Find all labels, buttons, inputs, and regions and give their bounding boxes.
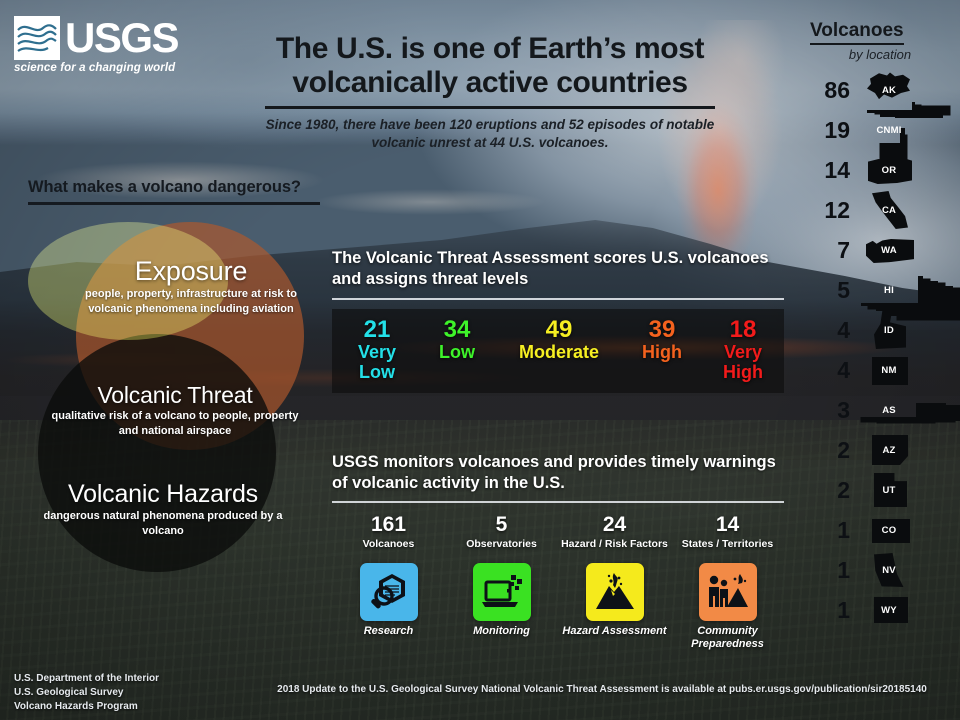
- byloc-count: 1: [800, 559, 858, 582]
- state-abbr: AS: [882, 405, 896, 416]
- threat-level-count: 18: [704, 317, 782, 342]
- byloc-count: 19: [800, 119, 858, 142]
- stat-label: Observatories: [445, 538, 558, 551]
- state-abbr: CA: [882, 205, 896, 216]
- stat-label: States / Territories: [671, 538, 784, 551]
- venn-title-exposure: Exposure: [66, 256, 316, 287]
- threat-assessment-block: The Volcanic Threat Assessment scores U.…: [332, 248, 784, 393]
- threat-level-label: Very High: [704, 343, 782, 383]
- state-shape-or: OR: [858, 151, 920, 189]
- threat-level-count: 49: [498, 317, 620, 342]
- threat-level-count: 39: [620, 317, 704, 342]
- activity-label: Hazard Assessment: [562, 625, 666, 638]
- state-abbr: OR: [882, 165, 897, 176]
- threat-level-item: 18 Very High: [704, 317, 782, 383]
- state-shape-wy: WY: [858, 591, 920, 629]
- stat-item: 14 States / Territories: [671, 514, 784, 551]
- activity-research: Research: [332, 563, 445, 651]
- footer-agency-line: U.S. Department of the Interior: [14, 672, 159, 686]
- byloc-subtitle: by location: [810, 47, 950, 62]
- stat-label: Hazard / Risk Factors: [558, 538, 671, 551]
- byloc-row: 1 CO: [800, 510, 950, 550]
- state-abbr: HI: [884, 285, 894, 296]
- page-title: The U.S. is one of Earth’s most volcanic…: [265, 32, 715, 100]
- threat-level-count: 34: [416, 317, 498, 342]
- state-abbr: AZ: [882, 445, 895, 456]
- venn-desc-hazards: dangerous natural phenomena produced by …: [28, 509, 298, 538]
- stat-item: 24 Hazard / Risk Factors: [558, 514, 671, 551]
- activity-label: Research: [364, 625, 414, 638]
- monitoring-block: USGS monitors volcanoes and provides tim…: [332, 452, 784, 651]
- activity-label: Community Preparedness: [671, 625, 784, 651]
- state-abbr: CO: [882, 525, 897, 536]
- state-abbr: AK: [882, 85, 896, 96]
- question-heading-text: What makes a volcano dangerous?: [28, 178, 320, 197]
- monitoring-heading: USGS monitors volcanoes and provides tim…: [332, 452, 784, 495]
- usgs-wave-icon: [14, 16, 60, 60]
- byloc-count: 2: [800, 439, 858, 462]
- byloc-count: 4: [800, 359, 858, 382]
- byloc-row: 12 CA: [800, 190, 950, 230]
- threat-level-panel: 21 Very Low 34 Low 49 Moderate 39 High 1…: [332, 309, 784, 393]
- erupting-volcano-icon: [586, 563, 644, 621]
- byloc-count: 14: [800, 159, 858, 182]
- magnifier-hexagon-icon: [360, 563, 418, 621]
- stat-label: Volcanoes: [332, 538, 445, 551]
- threat-assessment-heading: The Volcanic Threat Assessment scores U.…: [332, 248, 784, 291]
- venn-label-hazards: Volcanic Hazards dangerous natural pheno…: [28, 480, 298, 538]
- usgs-tagline: science for a changing world: [14, 62, 194, 74]
- state-shape-nv: NV: [858, 551, 920, 589]
- people-volcano-icon: [699, 563, 757, 621]
- threat-level-label: High: [620, 343, 704, 363]
- byloc-count: 2: [800, 479, 858, 502]
- threat-level-label: Very Low: [338, 343, 416, 383]
- monitoring-divider: [332, 501, 784, 503]
- state-shape-hi: HI: [858, 271, 920, 309]
- footer-agency: U.S. Department of the Interior U.S. Geo…: [14, 672, 159, 715]
- state-abbr: CNMI: [876, 125, 901, 136]
- state-shape-wa: WA: [858, 231, 920, 269]
- activity-label: Monitoring: [473, 625, 530, 638]
- activity-hazard-assessment: Hazard Assessment: [558, 563, 671, 651]
- headline-subtitle: Since 1980, there have been 120 eruption…: [265, 116, 715, 152]
- byloc-count: 7: [800, 239, 858, 262]
- byloc-row: 1 NV: [800, 550, 950, 590]
- monitoring-stats: 161 Volcanoes 5 Observatories 24 Hazard …: [332, 514, 784, 551]
- venn-title-threat: Volcanic Threat: [46, 382, 304, 409]
- byloc-title: Volcanoes: [810, 20, 904, 45]
- infographic-poster: USGS science for a changing world The U.…: [0, 0, 960, 720]
- byloc-row: 3 AS: [800, 390, 950, 430]
- question-heading-divider: [28, 202, 320, 205]
- laptop-data-icon: [473, 563, 531, 621]
- byloc-row: 2 AZ: [800, 430, 950, 470]
- byloc-row: 4 ID: [800, 310, 950, 350]
- venn-label-threat: Volcanic Threat qualitative risk of a vo…: [46, 382, 304, 438]
- byloc-row: 86 AK: [800, 70, 950, 110]
- byloc-row: 2 UT: [800, 470, 950, 510]
- usgs-logo: USGS science for a changing world: [14, 16, 194, 74]
- stat-number: 5: [445, 514, 558, 536]
- stat-number: 24: [558, 514, 671, 536]
- stat-number: 161: [332, 514, 445, 536]
- threat-level-item: 34 Low: [416, 317, 498, 363]
- state-shape-ut: UT: [858, 471, 920, 509]
- activity-monitoring: Monitoring: [445, 563, 558, 651]
- byloc-row: 4 NM: [800, 350, 950, 390]
- question-heading: What makes a volcano dangerous?: [28, 178, 320, 205]
- venn-title-hazards: Volcanic Hazards: [28, 480, 298, 509]
- state-shape-ak: AK: [858, 71, 920, 109]
- byloc-row: 1 WY: [800, 590, 950, 630]
- venn-desc-exposure: people, property, infrastructure at risk…: [66, 287, 316, 316]
- footer-agency-line: U.S. Geological Survey: [14, 686, 159, 700]
- stat-item: 5 Observatories: [445, 514, 558, 551]
- state-shape-nm: NM: [858, 351, 920, 389]
- byloc-count: 3: [800, 399, 858, 422]
- state-abbr: WA: [881, 245, 897, 256]
- byloc-count: 5: [800, 279, 858, 302]
- venn-label-exposure: Exposure people, property, infrastructur…: [66, 256, 316, 316]
- byloc-count: 1: [800, 599, 858, 622]
- byloc-count: 1: [800, 519, 858, 542]
- threat-level-item: 39 High: [620, 317, 704, 363]
- state-shape-id: ID: [858, 311, 920, 349]
- venn-diagram: Exposure people, property, infrastructur…: [28, 222, 318, 562]
- state-shape-as: AS: [858, 391, 920, 429]
- activity-community-preparedness: Community Preparedness: [671, 563, 784, 651]
- byloc-row: 14 OR: [800, 150, 950, 190]
- footer-agency-line: Volcano Hazards Program: [14, 700, 159, 714]
- byloc-count: 4: [800, 319, 858, 342]
- byloc-row: 5 HI: [800, 270, 950, 310]
- threat-level-item: 49 Moderate: [498, 317, 620, 363]
- byloc-list: 86 AK 19 CNMI 14 OR: [800, 70, 950, 630]
- usgs-wordmark: USGS: [65, 18, 178, 58]
- stat-item: 161 Volcanoes: [332, 514, 445, 551]
- threat-level-item: 21 Very Low: [338, 317, 416, 383]
- volcanoes-by-location: Volcanoes by location 86 AK 19 CNMI 14: [800, 20, 950, 630]
- state-abbr: UT: [882, 485, 895, 496]
- headline-block: The U.S. is one of Earth’s most volcanic…: [265, 32, 715, 152]
- venn-desc-threat: qualitative risk of a volcano to people,…: [46, 409, 304, 438]
- headline-divider: [265, 106, 715, 109]
- state-abbr: NM: [881, 365, 896, 376]
- byloc-row: 7 WA: [800, 230, 950, 270]
- state-shape-az: AZ: [858, 431, 920, 469]
- state-shape-ca: CA: [858, 191, 920, 229]
- state-shape-co: CO: [858, 511, 920, 549]
- byloc-count: 86: [800, 79, 858, 102]
- threat-level-count: 21: [338, 317, 416, 342]
- threat-assessment-divider: [332, 298, 784, 300]
- state-abbr: WY: [881, 605, 897, 616]
- byloc-row: 19 CNMI: [800, 110, 950, 150]
- byloc-count: 12: [800, 199, 858, 222]
- state-abbr: ID: [884, 325, 894, 336]
- threat-level-label: Low: [416, 343, 498, 363]
- footer-citation: 2018 Update to the U.S. Geological Surve…: [252, 684, 952, 695]
- threat-level-label: Moderate: [498, 343, 620, 363]
- stat-number: 14: [671, 514, 784, 536]
- state-shape-cnmi: CNMI: [858, 111, 920, 149]
- activity-icons: Research Monitoring: [332, 563, 784, 651]
- state-abbr: NV: [882, 565, 896, 576]
